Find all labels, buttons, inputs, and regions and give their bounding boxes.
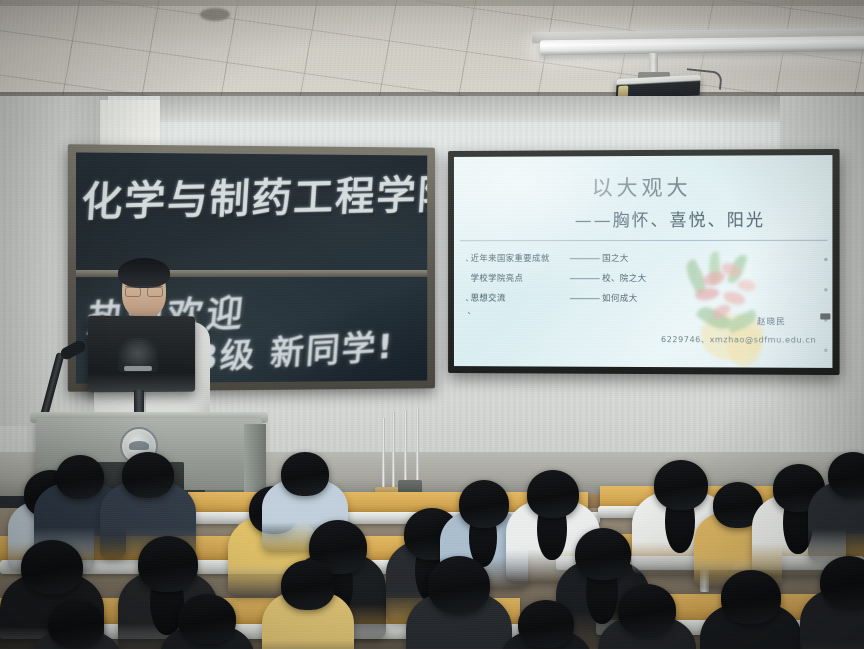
- audience-member: [262, 560, 354, 649]
- audience-head: [459, 480, 509, 528]
- slide-subtitle: ——胸怀、喜悦、阳光: [454, 205, 832, 231]
- bullet-right: 国之大: [602, 252, 629, 264]
- audience-head: [828, 452, 864, 498]
- audience-member: [406, 556, 512, 649]
- audience-head: [56, 455, 104, 499]
- list-item: 学校学院亮点 ———— 校、院之大: [466, 272, 714, 284]
- audience-head: [281, 560, 335, 610]
- audience-head: [518, 600, 574, 648]
- bullet-right: 如何成大: [602, 292, 637, 304]
- slide-corner-chip: [820, 313, 830, 319]
- monitor-vent: [124, 366, 152, 371]
- audience-head: [428, 556, 490, 614]
- audience-member: [160, 594, 254, 649]
- audience-head: [178, 594, 236, 644]
- slide-contact: 6229746、xmzhao@sdfmu.edu.cn: [661, 334, 816, 346]
- bouquet-petal: [736, 279, 756, 293]
- audience-member: [500, 600, 592, 649]
- slide-bullet-list: 、 近年来国家重要成就 ———— 国之大 学校学院亮点 ———— 校、院之大 、…: [466, 252, 714, 317]
- audience-head: [138, 536, 198, 592]
- bullet-left: 思想交流: [471, 292, 570, 304]
- audience-member: [800, 556, 864, 649]
- slide-author: 赵晓民: [757, 315, 786, 327]
- slide-sidebar-marks: [821, 244, 830, 365]
- audience-head: [48, 600, 104, 648]
- bullet-right: 校、院之大: [602, 272, 646, 284]
- list-item: 、 思想交流 ———— 如何成大: [466, 292, 714, 304]
- bullet-dash: ————: [569, 274, 602, 284]
- audience-head: [21, 540, 83, 594]
- lecture-hall-photo: 化学与制药工程学院 热烈欢迎 2023级 新同学! 以大观大 ——胸怀、喜悦、阳…: [0, 0, 864, 649]
- slide-title: 以大观大: [454, 171, 832, 202]
- audience-head: [122, 452, 174, 498]
- monitor-icon: [88, 316, 195, 393]
- glasses-icon: [125, 286, 163, 295]
- audience-head: [721, 570, 781, 624]
- projection-screen: 以大观大 ——胸怀、喜悦、阳光 、 近年来国家重要成就 ———— 国之大 学校学…: [448, 149, 839, 375]
- audience-head: [281, 452, 329, 496]
- presenter-hair: [118, 258, 170, 288]
- audience-head: [575, 528, 631, 580]
- bullet-dash: ————: [569, 294, 602, 304]
- bullet-mark-extra: 、: [468, 309, 714, 318]
- sidebar-dot: [824, 257, 827, 260]
- sidebar-dot: [824, 288, 827, 291]
- audience-head: [527, 470, 579, 518]
- audience-head: [820, 556, 864, 608]
- list-item: 、 近年来国家重要成就 ———— 国之大: [466, 252, 714, 264]
- slide-divider: [460, 240, 828, 241]
- audience-member: [30, 600, 122, 649]
- ceiling-vent-icon: [200, 8, 230, 21]
- audience-member: [700, 570, 802, 649]
- bullet-dash: ————: [569, 254, 602, 264]
- slide-surface: 以大观大 ——胸怀、喜悦、阳光 、 近年来国家重要成就 ———— 国之大 学校学…: [454, 155, 832, 368]
- ceiling-seam: [0, 0, 864, 6]
- bullet-left: 学校学院亮点: [471, 272, 570, 284]
- bouquet-illustration: [683, 248, 794, 367]
- blackboard-heading: 化学与制药工程学院: [80, 163, 427, 228]
- audience-member: [598, 584, 696, 649]
- audience-head: [618, 584, 676, 636]
- bullet-left: 近年来国家重要成就: [471, 252, 570, 264]
- sidebar-dot: [824, 348, 827, 351]
